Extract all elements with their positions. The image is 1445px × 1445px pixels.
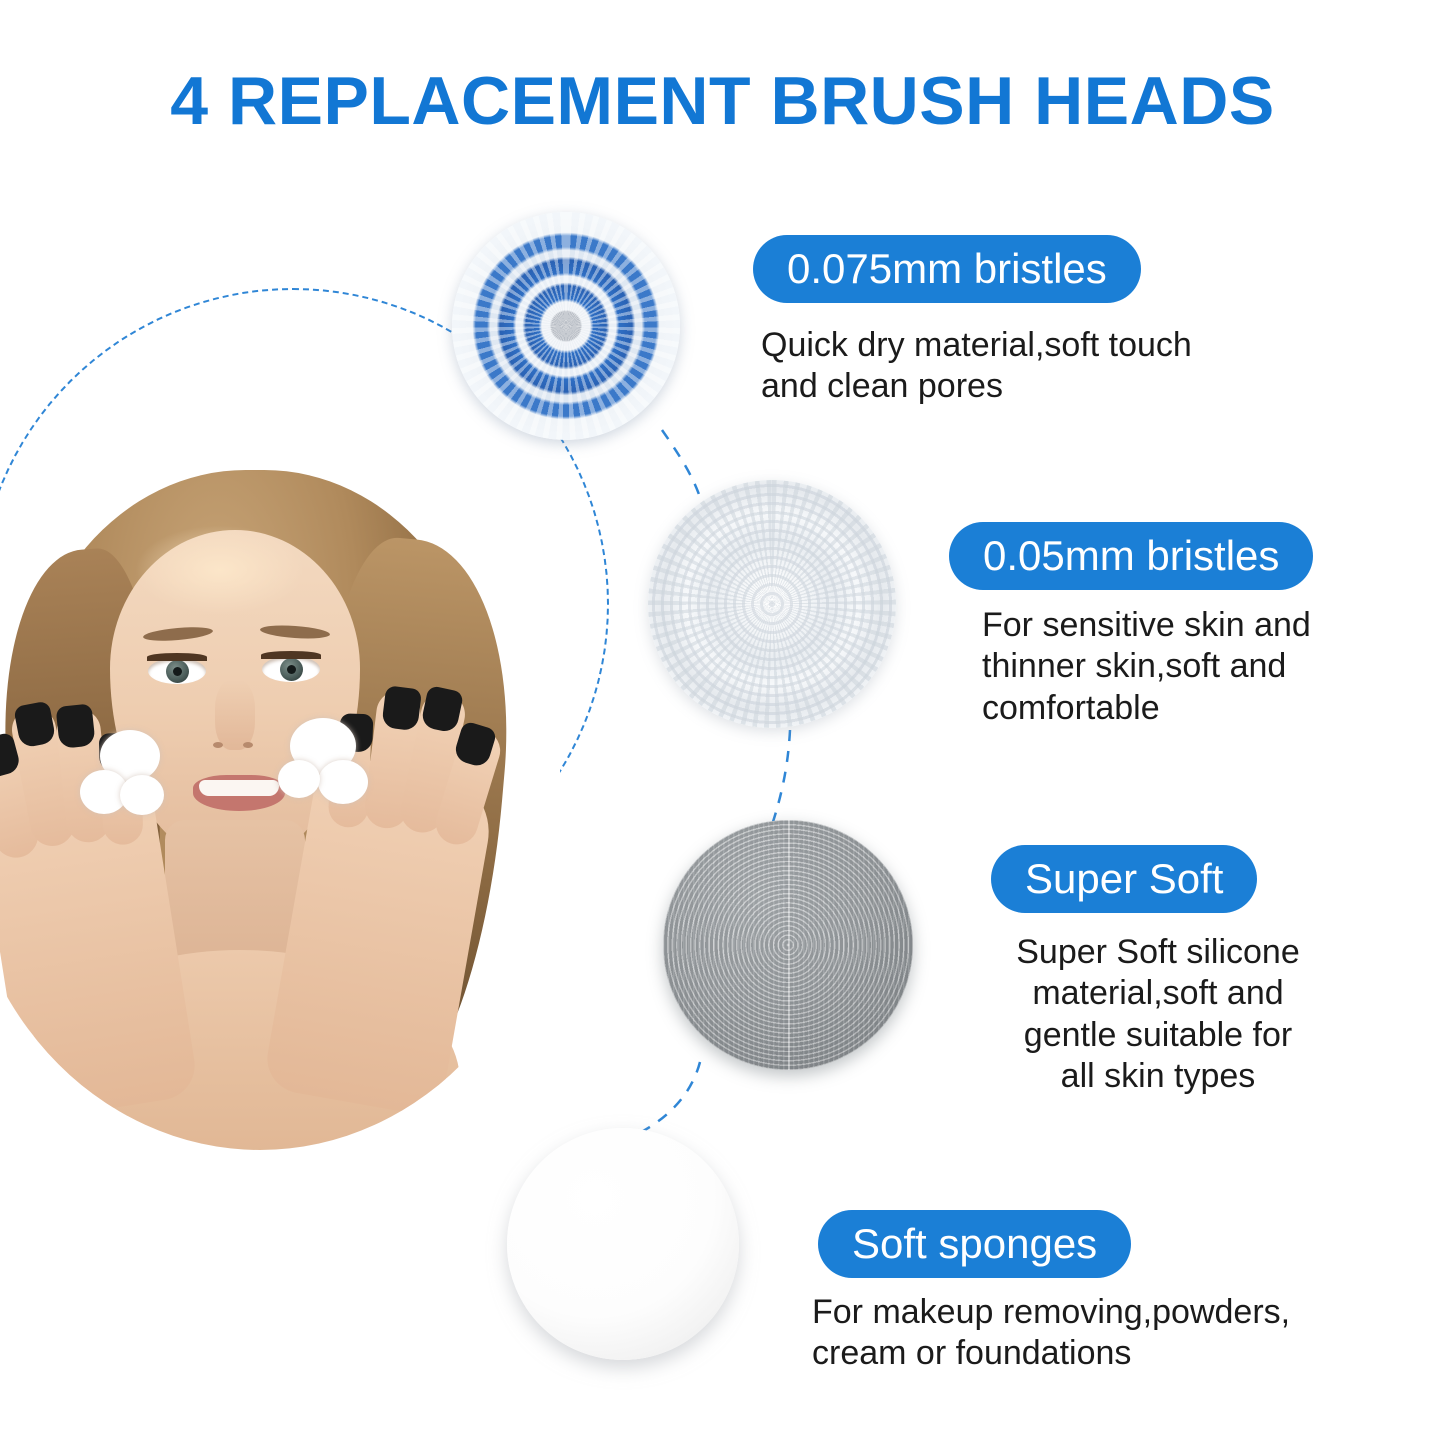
product-white-bristle-brush-head: [648, 480, 896, 728]
product-blue-white-bristle-brush-head: [452, 212, 680, 440]
label-pill-bristles-005: 0.05mm bristles: [949, 522, 1313, 590]
label-desc-super-soft: Super Soft silicone material,soft and ge…: [1008, 932, 1308, 1098]
label-desc-soft-sponges: For makeup removing,powders, cream or fo…: [812, 1292, 1290, 1375]
label-pill-super-soft: Super Soft: [991, 845, 1257, 913]
model-photo: [0, 430, 560, 1150]
infographic-canvas: 4 REPLACEMENT BRUSH HEADS: [0, 0, 1445, 1445]
product-white-sponge-head: [507, 1128, 739, 1360]
label-desc-bristles-005: For sensitive skin and thinner skin,soft…: [982, 605, 1311, 729]
label-pill-soft-sponges: Soft sponges: [818, 1210, 1131, 1278]
page-title: 4 REPLACEMENT BRUSH HEADS: [0, 62, 1445, 140]
product-grey-silicone-pad-head: [663, 820, 913, 1070]
label-pill-bristles-075: 0.075mm bristles: [753, 235, 1141, 303]
label-desc-bristles-075: Quick dry material,soft touch and clean …: [761, 325, 1192, 408]
